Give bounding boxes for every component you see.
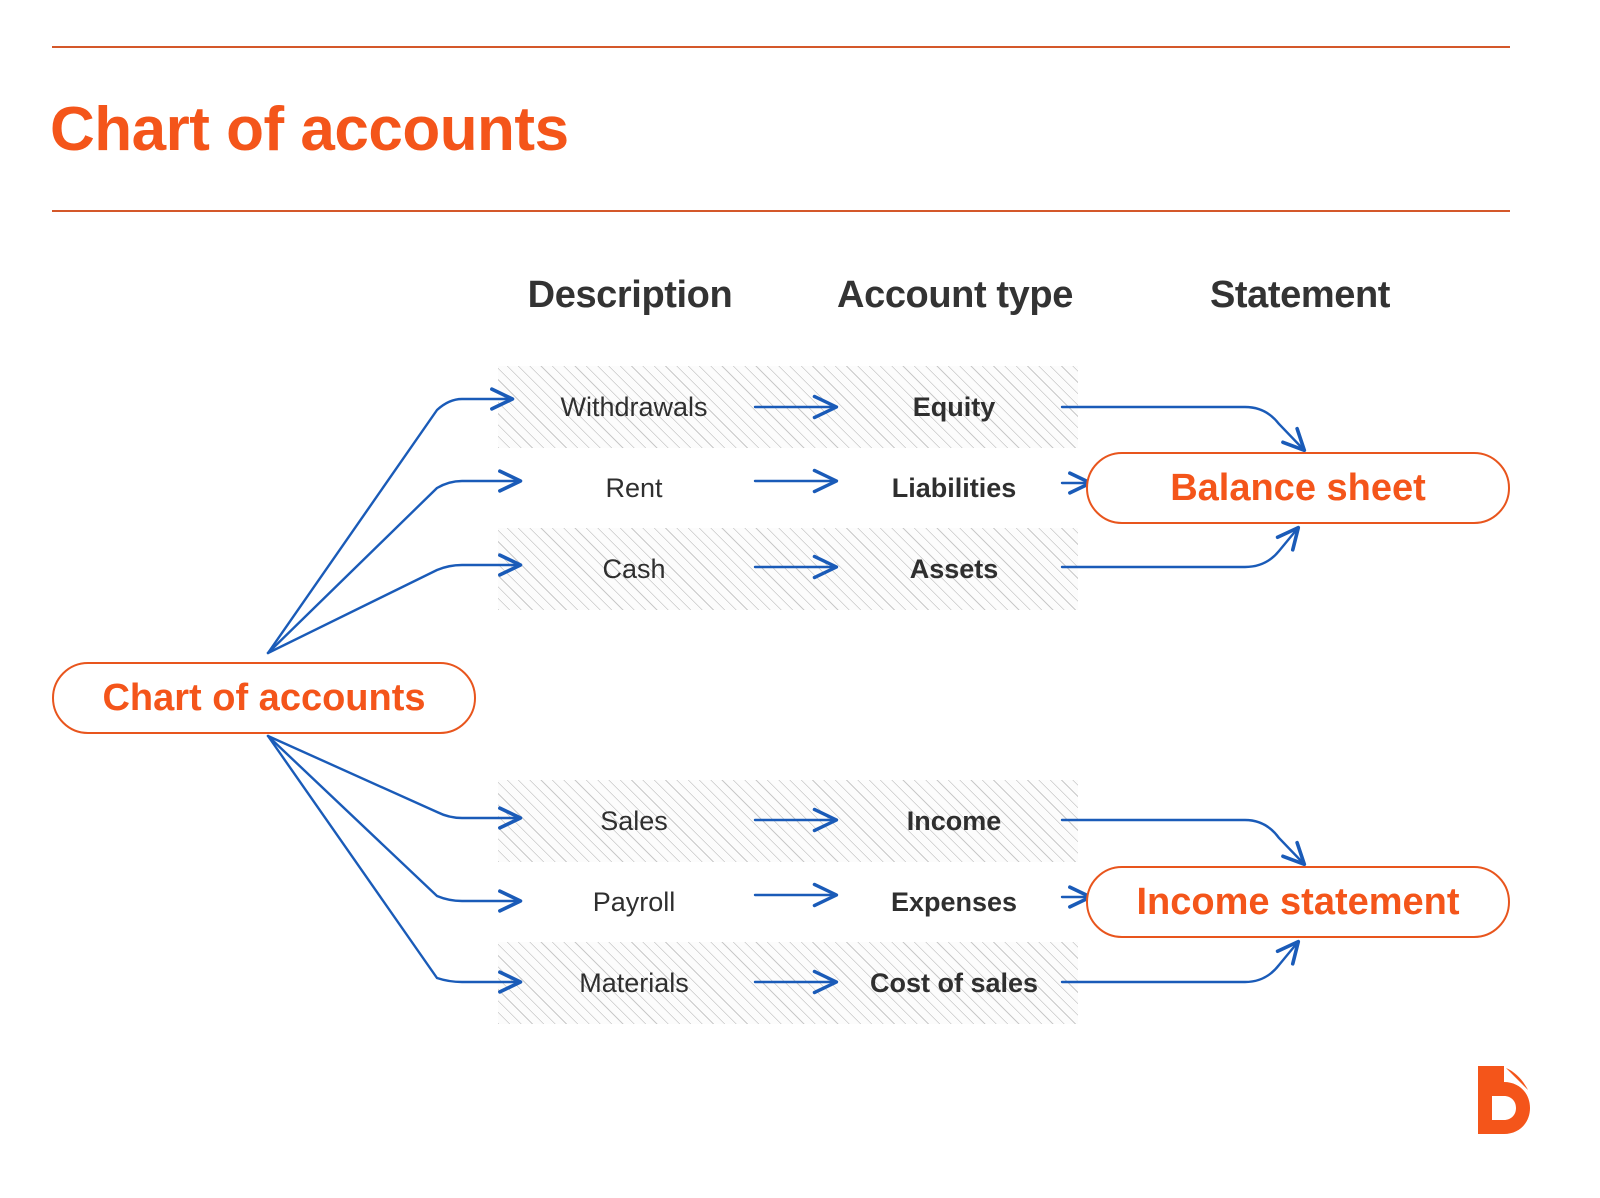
edge-equity-to-balance-sheet <box>1062 407 1304 450</box>
edge-root-to-cash <box>268 565 520 653</box>
node-chart-of-accounts[interactable]: Chart of accounts <box>52 662 476 734</box>
slide-canvas: Chart of accounts Description Account ty… <box>0 0 1600 1198</box>
node-balance-sheet[interactable]: Balance sheet <box>1086 452 1510 524</box>
edge-root-to-rent <box>268 481 520 653</box>
edge-root-to-sales <box>268 736 520 818</box>
node-income-statement[interactable]: Income statement <box>1086 866 1510 938</box>
edge-cost-of-sales-to-income-statement <box>1062 942 1298 982</box>
edge-root-to-withdrawals <box>268 399 512 653</box>
edge-assets-to-balance-sheet <box>1062 528 1298 567</box>
b-logo <box>1452 1052 1548 1148</box>
edge-income-to-income-statement <box>1062 820 1304 864</box>
connector-arrows <box>0 0 1600 1198</box>
